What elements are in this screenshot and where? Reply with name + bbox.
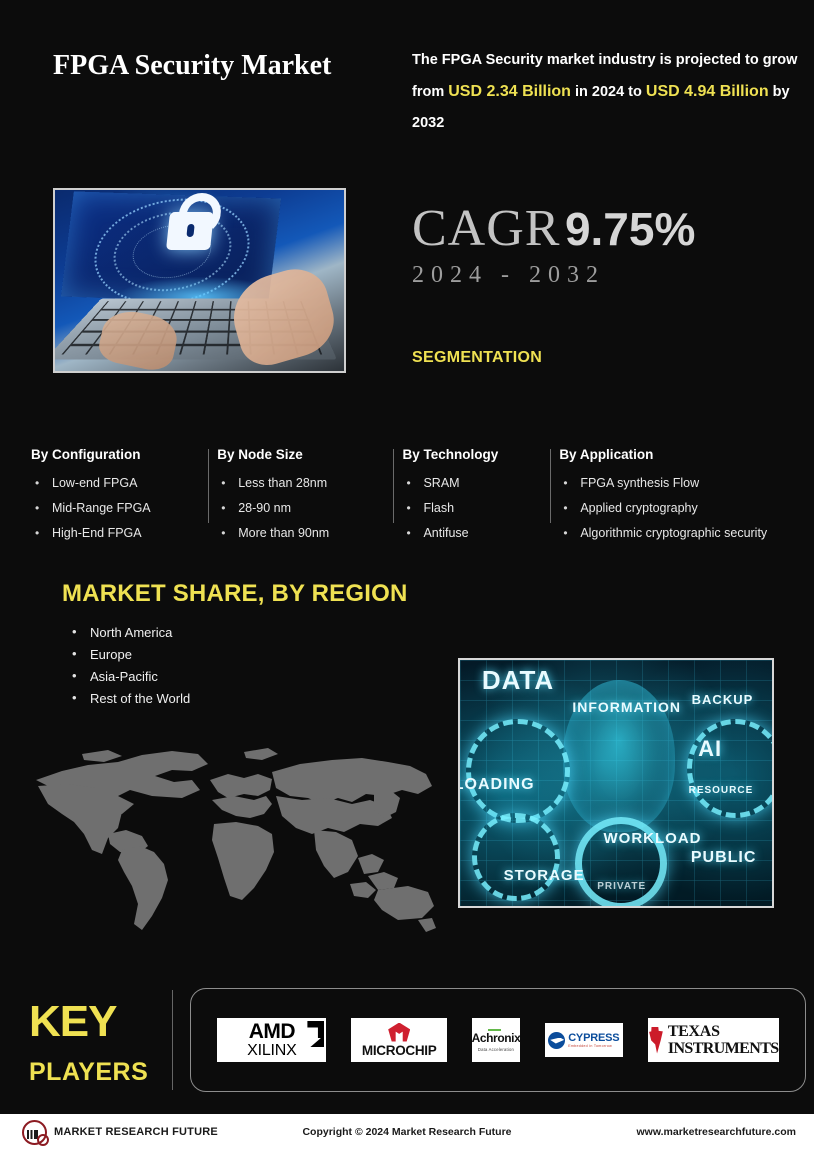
segmentation-list: FPGA synthesis Flow Applied cryptography… (559, 471, 781, 546)
data-label-workload: WORKLOAD (604, 830, 702, 847)
data-label-loading: LOADING (458, 776, 535, 794)
list-item: More than 90nm (217, 521, 392, 546)
segmentation-heading: By Application (559, 447, 781, 462)
microchip-mark-icon (388, 1023, 410, 1042)
xilinx-wordmark: XILINX (247, 1042, 297, 1059)
segmentation-column-technology: By Technology SRAM Flash Antifuse (402, 447, 559, 546)
amd-arrow-icon (307, 1021, 324, 1038)
list-item: High-End FPGA (31, 521, 207, 546)
footer-bar: MARKET RESEARCH FUTURE Copyright © 2024 … (0, 1114, 814, 1150)
cagr-value: 9.75% (565, 203, 695, 255)
data-label-backup: BACKUP (692, 692, 754, 707)
intro-mid: in 2024 to (571, 84, 646, 100)
cagr-block: CAGR 9.75% (412, 199, 695, 258)
footer-url[interactable]: www.marketresearchfuture.com (636, 1126, 796, 1138)
amd-wordmark: AMD (249, 1022, 295, 1042)
infographic-page: FPGA Security Market The FPGA Security m… (0, 0, 814, 1150)
list-item: Antifuse (402, 521, 549, 546)
texas-wordmark: TEXAS (668, 1024, 720, 1040)
list-item: Algorithmic cryptographic security (559, 521, 781, 546)
page-title: FPGA Security Market (53, 46, 383, 86)
segmentation-label: SEGMENTATION (412, 349, 542, 367)
intro-value-2032: USD 4.94 Billion (646, 83, 769, 100)
hud-ring-left (466, 719, 570, 822)
instruments-wordmark: INSTRUMENTS (668, 1040, 779, 1057)
data-technology-image: DATA INFORMATION BACKUP AI LOADING RESOU… (458, 658, 774, 908)
list-item: Applied cryptography (559, 496, 781, 521)
achronix-wordmark: Achronix (472, 1031, 521, 1045)
segmentation-heading: By Technology (402, 447, 549, 462)
list-item: Less than 28nm (217, 471, 392, 496)
world-map-svg (22, 738, 442, 938)
cypress-text-group: CYPRESS Embedded in Tomorrow (568, 1032, 619, 1048)
segmentation-list: SRAM Flash Antifuse (402, 471, 549, 546)
data-label-storage: STORAGE (504, 867, 585, 884)
segmentation-heading: By Configuration (31, 447, 207, 462)
segmentation-heading: By Node Size (217, 447, 392, 462)
key-players-key-label: KEY (29, 1000, 116, 1044)
ti-text-group: TEXAS INSTRUMENTS (668, 1024, 779, 1057)
hud-ring-right (687, 719, 774, 818)
continents (36, 748, 436, 932)
key-players-players-label: PLAYERS (29, 1058, 148, 1087)
segmentation-list: Less than 28nm 28-90 nm More than 90nm (217, 471, 392, 546)
padlock-icon (166, 212, 214, 250)
logo-microchip: MICROCHIP (351, 1018, 447, 1062)
cypress-wordmark: CYPRESS (568, 1032, 619, 1044)
data-label-ai: AI (698, 736, 722, 762)
list-item: Mid-Range FPGA (31, 496, 207, 521)
list-item: Asia-Pacific (68, 666, 190, 688)
data-label-public: PUBLIC (691, 849, 757, 867)
achronix-tagline: Data Acceleration (478, 1047, 514, 1052)
microchip-wordmark: MICROCHIP (362, 1043, 437, 1058)
list-item: Low-end FPGA (31, 471, 207, 496)
world-map (22, 738, 442, 938)
key-players-divider (172, 990, 173, 1090)
hero-image-background (55, 190, 344, 371)
segmentation-column-configuration: By Configuration Low-end FPGA Mid-Range … (31, 447, 217, 546)
amd-notch-icon (310, 1035, 324, 1047)
logo-cypress: CYPRESS Embedded in Tomorrow (545, 1023, 623, 1057)
intro-value-2024: USD 2.34 Billion (448, 83, 571, 100)
cagr-label: CAGR (412, 200, 560, 257)
hud-ring-lower-left (472, 813, 560, 902)
key-players-logo-box: AMD XILINX MICROCHIP Achronix Data Accel… (190, 988, 806, 1092)
market-projection-text: The FPGA Security market industry is pro… (412, 45, 804, 139)
list-item: Rest of the World (68, 688, 190, 710)
column-divider (550, 449, 551, 523)
market-share-region-list: North America Europe Asia-Pacific Rest o… (68, 622, 190, 710)
data-label-data: DATA (482, 665, 554, 696)
hero-image-laptop-padlock (53, 188, 346, 373)
column-divider (393, 449, 394, 523)
list-item: Flash (402, 496, 549, 521)
list-item: FPGA synthesis Flow (559, 471, 781, 496)
list-item: SRAM (402, 471, 549, 496)
cagr-period: 2024 - 2032 (412, 262, 605, 289)
logo-achronix: Achronix Data Acceleration (472, 1018, 520, 1062)
list-item: Europe (68, 644, 190, 666)
logo-amd-xilinx: AMD XILINX (217, 1018, 326, 1062)
segmentation-columns: By Configuration Low-end FPGA Mid-Range … (31, 447, 791, 546)
segmentation-column-node-size: By Node Size Less than 28nm 28-90 nm Mor… (217, 447, 402, 546)
data-label-resource: RESOURCE (689, 785, 754, 796)
data-label-private: PRIVATE (597, 881, 646, 892)
market-share-title: MARKET SHARE, BY REGION (62, 580, 408, 608)
segmentation-list: Low-end FPGA Mid-Range FPGA High-End FPG… (31, 471, 207, 546)
column-divider (208, 449, 209, 523)
segmentation-column-application: By Application FPGA synthesis Flow Appli… (559, 447, 791, 546)
texas-state-icon (648, 1027, 663, 1054)
list-item: 28-90 nm (217, 496, 392, 521)
cypress-tagline: Embedded in Tomorrow (568, 1044, 619, 1048)
cypress-mark-icon (548, 1032, 565, 1049)
list-item: North America (68, 622, 190, 644)
data-label-information: INFORMATION (572, 699, 681, 715)
logo-texas-instruments: TEXAS INSTRUMENTS (648, 1018, 779, 1062)
